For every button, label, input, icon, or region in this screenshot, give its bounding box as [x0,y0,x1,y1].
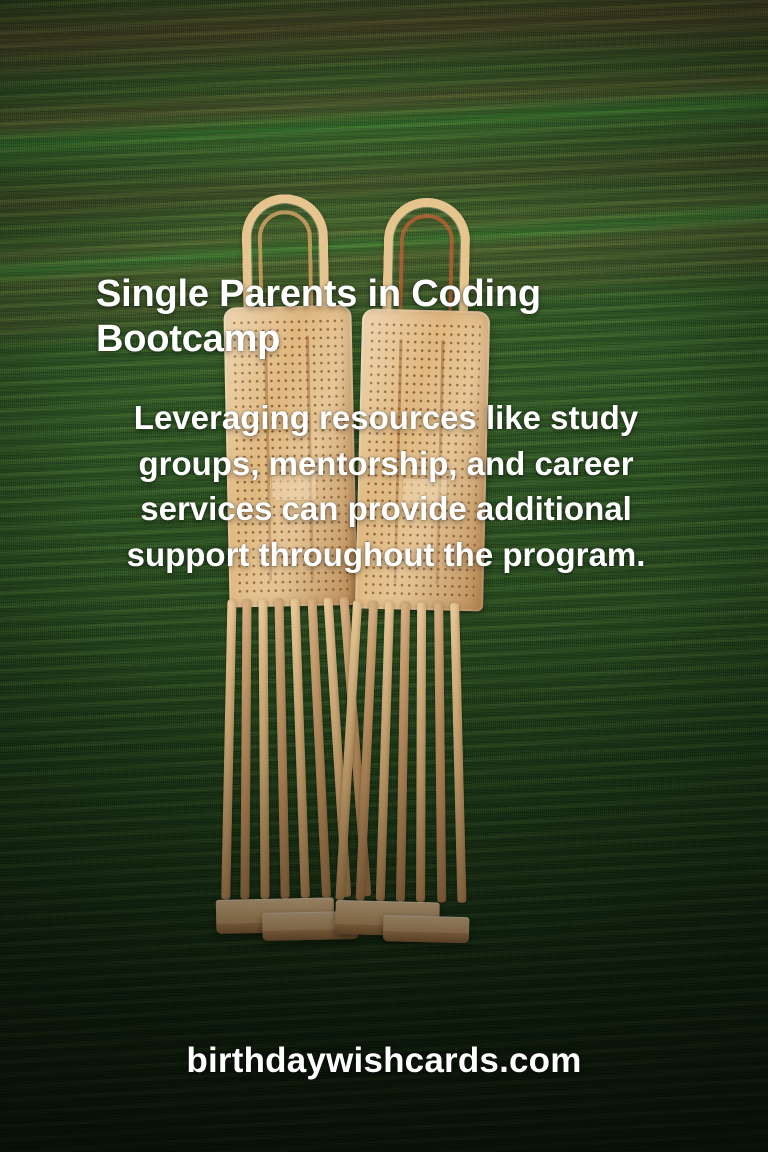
social-quote-card: Single Parents in Coding Bootcamp Levera… [0,0,768,1152]
site-watermark: birthdaywishcards.com [0,1041,768,1081]
text-overlay: Single Parents in Coding Bootcamp Levera… [0,0,768,1152]
card-body: Leveraging resources like study groups, … [84,395,688,577]
card-title: Single Parents in Coding Bootcamp [96,272,690,362]
